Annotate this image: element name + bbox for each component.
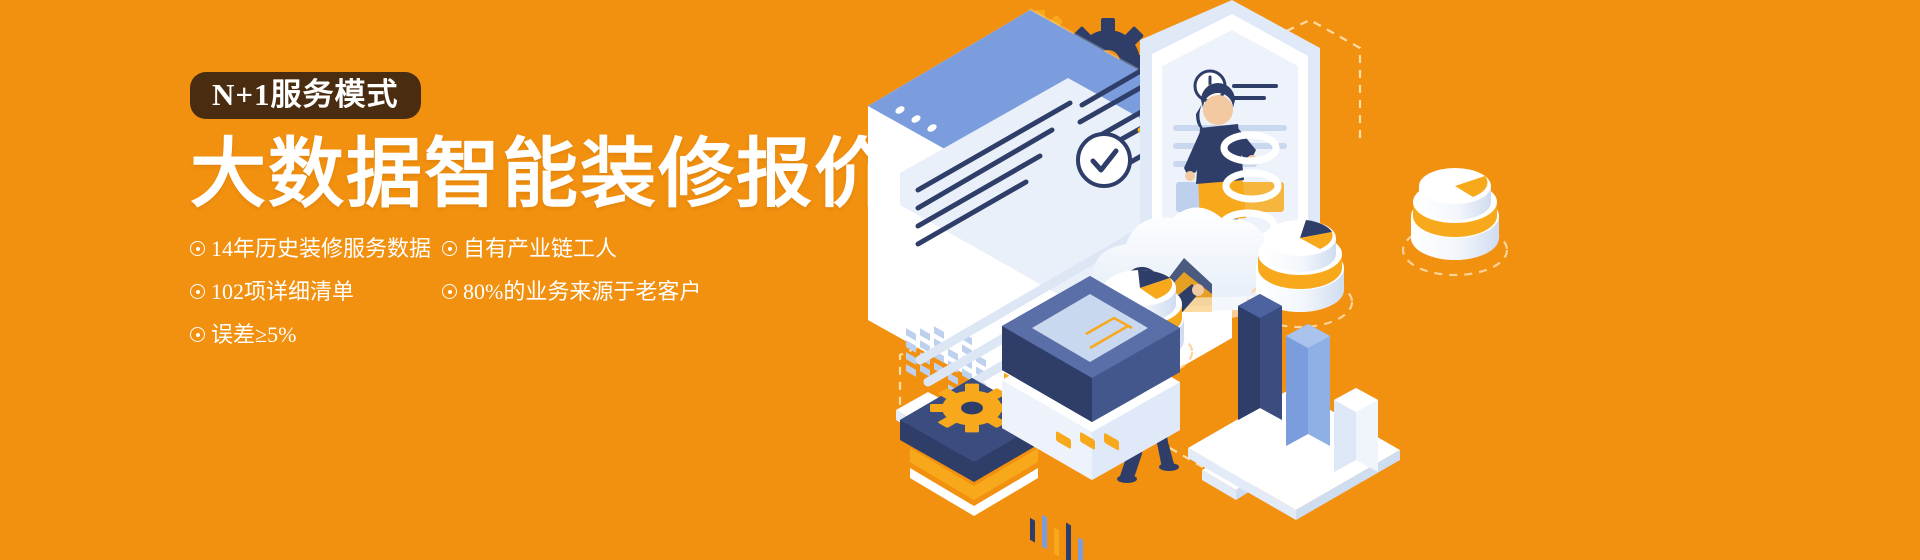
list-item-label: 自有产业链工人 — [463, 238, 617, 260]
server-bar-chart — [1030, 515, 1083, 560]
check-badge-icon — [1078, 134, 1130, 186]
list-item-label: 80%的业务来源于老客户 — [463, 281, 701, 303]
list-item: 误差≥5% — [190, 324, 442, 346]
promo-banner: N+1服务模式 大数据智能装修报价 14年历史装修服务数据 102项详细清单 误… — [0, 0, 1920, 560]
list-item: 自有产业链工人 — [442, 238, 772, 260]
list-item-label: 误差≥5% — [211, 324, 296, 346]
feature-list-right-column: 自有产业链工人 80%的业务来源于老客户 — [442, 238, 772, 367]
headline: 大数据智能装修报价 — [190, 136, 870, 214]
feature-list-left-column: 14年历史装修服务数据 102项详细清单 误差≥5% — [190, 238, 442, 367]
bar-tall-navy — [1238, 294, 1282, 420]
circled-dot-icon — [190, 327, 205, 342]
circled-dot-icon — [442, 241, 457, 256]
circled-dot-icon — [190, 284, 205, 299]
list-item: 14年历史装修服务数据 — [190, 238, 442, 260]
list-item: 80%的业务来源于老客户 — [442, 281, 772, 303]
feature-list: 14年历史装修服务数据 102项详细清单 误差≥5% 自有产业链工人 — [190, 238, 870, 367]
service-mode-badge: N+1服务模式 — [190, 72, 421, 119]
gear-bottom-icon — [930, 384, 1014, 433]
server-box — [1002, 276, 1180, 560]
circled-dot-icon — [190, 241, 205, 256]
list-item-label: 102项详细清单 — [211, 281, 354, 303]
circled-dot-icon — [442, 284, 457, 299]
bar-mid-blue — [1286, 324, 1330, 446]
list-item: 102项详细清单 — [190, 281, 442, 303]
isometric-big-data-illustration — [840, 0, 1920, 560]
bar-short-white — [1334, 388, 1378, 472]
copy-block: N+1服务模式 大数据智能装修报价 14年历史装修服务数据 102项详细清单 误… — [190, 72, 870, 367]
list-item-label: 14年历史装修服务数据 — [211, 238, 431, 260]
